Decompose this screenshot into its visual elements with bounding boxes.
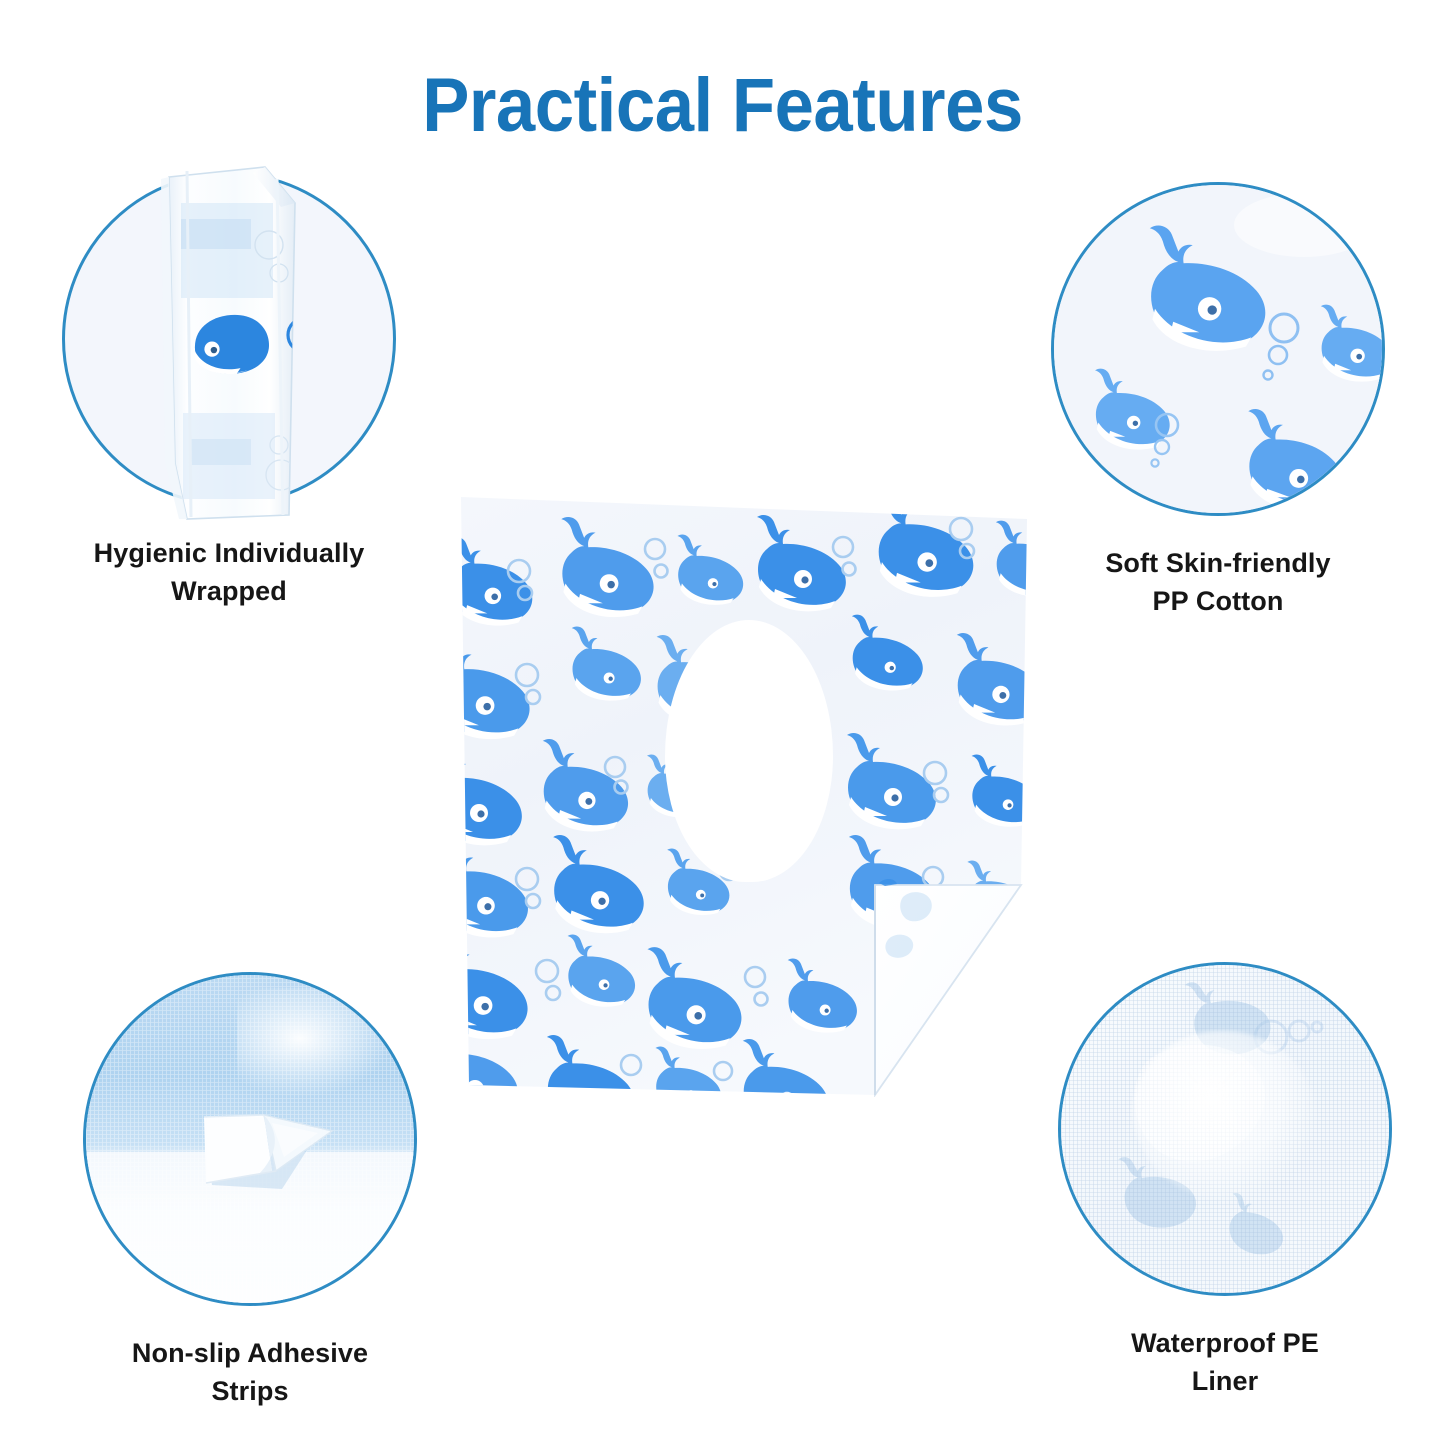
whale-fabric-closeup-photo — [1054, 185, 1382, 513]
feature-image-circle-pp-cotton — [1051, 182, 1385, 516]
caption-line-2: Wrapped — [14, 572, 444, 610]
feature-image-circle-adhesive-strips — [83, 972, 417, 1306]
wrapped-package-icon — [157, 163, 307, 521]
feature-pe-liner: Waterproof PE Liner — [1058, 962, 1440, 1401]
caption-line-1: Non-slip Adhesive — [35, 1334, 465, 1372]
product-photo-toilet-seat-cover — [455, 485, 1033, 1097]
feature-image-circle-hygienic-wrapped — [62, 172, 396, 506]
feature-caption-pe-liner: Waterproof PE Liner — [1010, 1324, 1440, 1401]
feature-adhesive-strips: Non-slip Adhesive Strips — [83, 972, 465, 1411]
caption-line-2: Liner — [1010, 1362, 1440, 1400]
feature-hygienic-wrapped: Hygienic Individually Wrapped — [62, 172, 444, 611]
feature-caption-hygienic-wrapped: Hygienic Individually Wrapped — [14, 534, 444, 611]
feature-image-circle-pe-liner — [1058, 962, 1392, 1296]
whale-pattern-closeup-icon — [1054, 185, 1382, 513]
feature-caption-adhesive-strips: Non-slip Adhesive Strips — [35, 1334, 465, 1411]
caption-line-1: Waterproof PE — [1010, 1324, 1440, 1362]
package-photo — [65, 175, 393, 503]
adhesive-tab-photo — [86, 975, 414, 1303]
caption-line-1: Hygienic Individually — [14, 534, 444, 572]
feature-caption-pp-cotton: Soft Skin-friendly PP Cotton — [1003, 544, 1433, 621]
caption-line-2: PP Cotton — [1003, 582, 1433, 620]
feature-pp-cotton: Soft Skin-friendly PP Cotton — [1051, 182, 1433, 621]
caption-line-1: Soft Skin-friendly — [1003, 544, 1433, 582]
page-title: Practical Features — [51, 62, 1395, 149]
peeled-adhesive-tab-icon — [86, 975, 414, 1303]
caption-line-2: Strips — [35, 1372, 465, 1410]
oval-seat-cutout — [665, 620, 833, 882]
pe-liner-photo — [1061, 965, 1389, 1293]
